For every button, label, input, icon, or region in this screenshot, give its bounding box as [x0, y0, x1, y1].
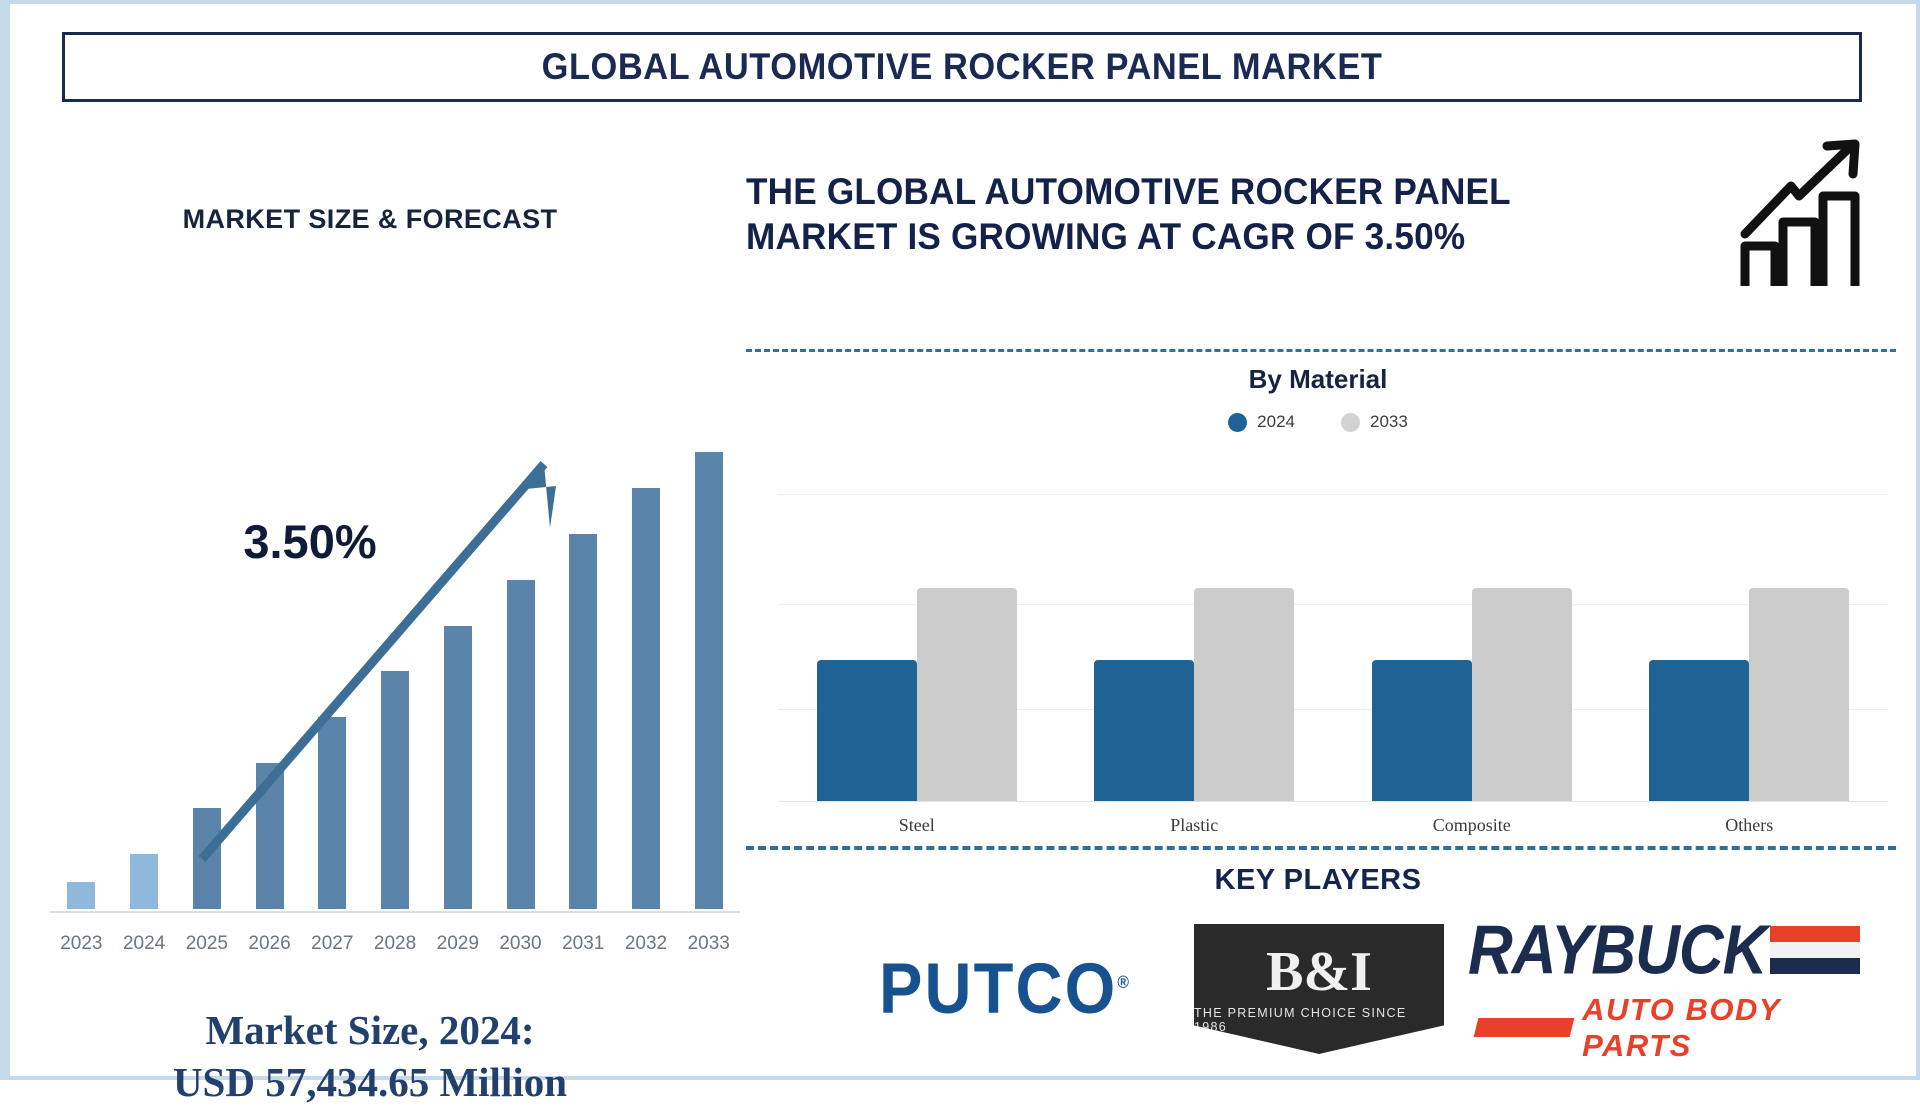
- by-material-group: [1333, 472, 1611, 802]
- forecast-bar: [193, 808, 221, 909]
- by-material-legend: 2024 2033: [738, 412, 1898, 432]
- right-panel: THE GLOBAL AUTOMOTIVE ROCKER PANEL MARKE…: [738, 124, 1908, 1074]
- forecast-bar: [507, 580, 535, 909]
- by-material-label: Plastic: [1056, 815, 1334, 836]
- by-material-group: [1611, 472, 1889, 802]
- forecast-year-label: 2033: [677, 933, 740, 955]
- forecast-year-label: 2031: [552, 933, 615, 955]
- forecast-bar: [381, 671, 409, 909]
- legend-label-2024: 2024: [1257, 412, 1295, 432]
- forecast-bar: [569, 534, 597, 909]
- by-material-bar-2033: [917, 588, 1017, 803]
- logo-raybuck-tagline: AUTO BODY PARTS: [1582, 992, 1888, 1064]
- forecast-year-label: 2029: [426, 933, 489, 955]
- by-material-bar-2024: [1094, 660, 1194, 802]
- forecast-bar-column: [50, 429, 113, 909]
- forecast-bar-column: [677, 429, 740, 909]
- by-material-bar-2033: [1194, 588, 1294, 803]
- legend-swatch-2033-icon: [1341, 413, 1360, 432]
- forecast-bar: [130, 854, 158, 909]
- by-material-bar-2033: [1749, 588, 1849, 803]
- legend-item-2033[interactable]: 2033: [1341, 412, 1408, 432]
- by-material-group: [1056, 472, 1334, 802]
- forecast-bar-column: [301, 429, 364, 909]
- logo-raybuck-bottom: AUTO BODY PARTS: [1468, 992, 1888, 1064]
- logo-raybuck-top: RAYBUCK: [1468, 915, 1888, 986]
- market-size-value: Market Size, 2024: USD 57,434.65 Million: [10, 1004, 730, 1109]
- divider-top: [746, 349, 1896, 352]
- legend-label-2033: 2033: [1370, 412, 1408, 432]
- forecast-year-label: 2032: [615, 933, 678, 955]
- left-panel: MARKET SIZE & FORECAST 3.50% 20232024202…: [10, 124, 730, 1074]
- forecast-bar-column: [552, 429, 615, 909]
- forecast-year-label: 2027: [301, 933, 364, 955]
- forecast-bar: [695, 452, 723, 909]
- by-material-bar-2024: [1372, 660, 1472, 802]
- logo-raybuck-word: RAYBUCK: [1468, 910, 1766, 990]
- forecast-bar: [256, 763, 284, 909]
- growth-bar-chart-arrow-icon: [1723, 134, 1873, 294]
- divider-bottom: [746, 846, 1896, 850]
- forecast-bars: [50, 429, 740, 909]
- by-material-label: Others: [1611, 815, 1889, 836]
- forecast-bar: [632, 488, 660, 909]
- market-size-line-2: USD 57,434.65 Million: [10, 1056, 730, 1108]
- by-material-bars: [778, 472, 1888, 802]
- logo-bi-tagline: THE PREMIUM CHOICE SINCE 1986: [1194, 1006, 1444, 1034]
- legend-item-2024[interactable]: 2024: [1228, 412, 1295, 432]
- by-material-bar-2024: [1649, 660, 1749, 802]
- forecast-year-label: 2030: [489, 933, 552, 955]
- logo-putco-word: PUTCO®: [879, 948, 1131, 1030]
- key-players-title: KEY PLAYERS: [738, 864, 1898, 897]
- forecast-year-label: 2025: [175, 933, 238, 955]
- registered-mark-icon: ®: [1117, 973, 1131, 993]
- forecast-year-label: 2026: [238, 933, 301, 955]
- by-material-axis-line: [778, 801, 1888, 802]
- forecast-bar-column: [426, 429, 489, 909]
- logo-bi-word: B&I: [1266, 944, 1372, 1000]
- market-size-forecast-heading: MARKET SIZE & FORECAST: [10, 204, 730, 235]
- by-material-bar-2033: [1472, 588, 1572, 803]
- market-size-line-1: Market Size, 2024:: [10, 1004, 730, 1056]
- forecast-bar-column: [615, 429, 678, 909]
- by-material-title: By Material: [738, 364, 1898, 395]
- forecast-bar: [67, 882, 95, 909]
- forecast-bar-column: [489, 429, 552, 909]
- logo-bi[interactable]: B&I THE PREMIUM CHOICE SINCE 1986: [1194, 924, 1444, 1054]
- forecast-year-labels: 2023202420252026202720282029203020312032…: [50, 933, 740, 955]
- legend-swatch-2024-icon: [1228, 413, 1247, 432]
- forecast-bar-column: [238, 429, 301, 909]
- by-material-bar-2024: [817, 660, 917, 802]
- forecast-bar-column: [364, 429, 427, 909]
- market-size-forecast-chart: 2023202420252026202720282029203020312032…: [30, 424, 730, 969]
- by-material-group: [778, 472, 1056, 802]
- by-material-label: Steel: [778, 815, 1056, 836]
- forecast-bar: [444, 626, 472, 909]
- by-material-chart: SteelPlasticCompositeOthers: [778, 454, 1888, 844]
- by-material-category-labels: SteelPlasticCompositeOthers: [778, 815, 1888, 836]
- logo-raybuck-flag-icon: [1770, 926, 1860, 974]
- forecast-year-label: 2028: [364, 933, 427, 955]
- by-material-label: Composite: [1333, 815, 1611, 836]
- page-title: GLOBAL AUTOMOTIVE ROCKER PANEL MARKET: [542, 46, 1383, 88]
- page-title-box: GLOBAL AUTOMOTIVE ROCKER PANEL MARKET: [62, 32, 1862, 102]
- infographic-page: GLOBAL AUTOMOTIVE ROCKER PANEL MARKET MA…: [10, 4, 1916, 1076]
- logo-putco[interactable]: PUTCO®: [840, 929, 1170, 1049]
- logo-putco-text: PUTCO: [879, 949, 1117, 1028]
- key-players-logos: PUTCO® B&I THE PREMIUM CHOICE SINCE 1986…: [738, 914, 1898, 1064]
- logo-raybuck-accent-icon: [1474, 1018, 1575, 1037]
- forecast-bar: [318, 717, 346, 909]
- forecast-bar-column: [175, 429, 238, 909]
- forecast-axis-line: [50, 911, 740, 913]
- logo-raybuck[interactable]: RAYBUCK AUTO BODY PARTS: [1468, 924, 1888, 1054]
- forecast-year-label: 2023: [50, 933, 113, 955]
- forecast-year-label: 2024: [113, 933, 176, 955]
- growth-headline: THE GLOBAL AUTOMOTIVE ROCKER PANEL MARKE…: [746, 169, 1658, 259]
- forecast-bar-column: [113, 429, 176, 909]
